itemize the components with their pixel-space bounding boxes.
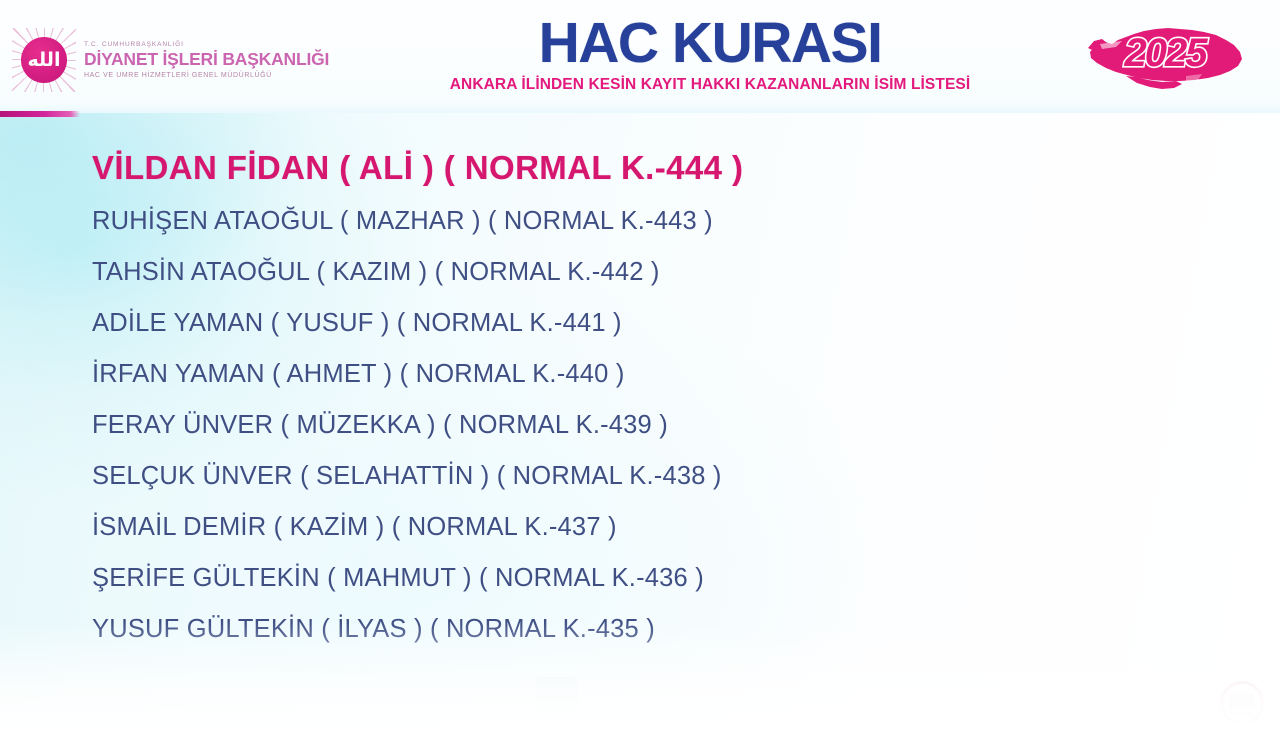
circular-seal-watermark-icon bbox=[1220, 681, 1264, 725]
institution-brand: الله T.C. CUMHURBAŞKANLIĞI DİYANET İŞLER… bbox=[12, 24, 352, 96]
list-item: RUHİŞEN ATAOĞUL ( MAZHAR ) ( NORMAL K.-4… bbox=[92, 196, 1240, 247]
emblem-calligraphy-icon: الله bbox=[21, 37, 67, 83]
brand-sub-line: HAC VE UMRE HİZMETLERİ GENEL MÜDÜRLÜĞÜ bbox=[84, 72, 329, 79]
diyanet-crescent-emblem-icon: الله bbox=[12, 28, 76, 92]
brand-top-line: T.C. CUMHURBAŞKANLIĞI bbox=[84, 41, 329, 48]
title-block: HAC KURASI ANKARA İLİNDEN KESİN KAYIT HA… bbox=[360, 14, 1060, 93]
list-item: TAHSİN ATAOĞUL ( KAZIM ) ( NORMAL K.-442… bbox=[92, 247, 1240, 298]
winners-name-list: VİLDAN FİDAN ( ALİ ) ( NORMAL K.-444 ) R… bbox=[92, 140, 1240, 655]
page-subtitle: ANKARA İLİNDEN KESİN KAYIT HAKKI KAZANAN… bbox=[360, 76, 1060, 93]
list-item: ADİLE YAMAN ( YUSUF ) ( NORMAL K.-441 ) bbox=[92, 298, 1240, 349]
institution-brand-text: T.C. CUMHURBAŞKANLIĞI DİYANET İŞLERİ BAŞ… bbox=[84, 41, 329, 79]
list-item: VİLDAN FİDAN ( ALİ ) ( NORMAL K.-444 ) bbox=[92, 140, 1240, 196]
list-item: FERAY ÜNVER ( MÜZEKKA ) ( NORMAL K.-439 … bbox=[92, 400, 1240, 451]
broadcast-slide: الله T.C. CUMHURBAŞKANLIĞI DİYANET İŞLER… bbox=[0, 0, 1280, 731]
list-item: SELÇUK ÜNVER ( SELAHATTİN ) ( NORMAL K.-… bbox=[92, 451, 1240, 502]
seal-inner bbox=[1229, 693, 1255, 715]
page-title: HAC KURASI bbox=[360, 14, 1060, 72]
header-pink-rule bbox=[0, 111, 80, 117]
year-badge-label-fill: 2025 bbox=[1124, 31, 1209, 75]
faint-logo-watermark-icon bbox=[536, 677, 578, 711]
list-item: İSMAİL DEMİR ( KAZİM ) ( NORMAL K.-437 ) bbox=[92, 502, 1240, 553]
list-item: İRFAN YAMAN ( AHMET ) ( NORMAL K.-440 ) bbox=[92, 349, 1240, 400]
list-item: ŞERİFE GÜLTEKİN ( MAHMUT ) ( NORMAL K.-4… bbox=[92, 553, 1240, 604]
list-item: YUSUF GÜLTEKİN ( İLYAS ) ( NORMAL K.-435… bbox=[92, 604, 1240, 655]
year-badge: 2025 2025 bbox=[1082, 14, 1248, 98]
brand-main-line: DİYANET İŞLERİ BAŞKANLIĞI bbox=[84, 49, 329, 70]
